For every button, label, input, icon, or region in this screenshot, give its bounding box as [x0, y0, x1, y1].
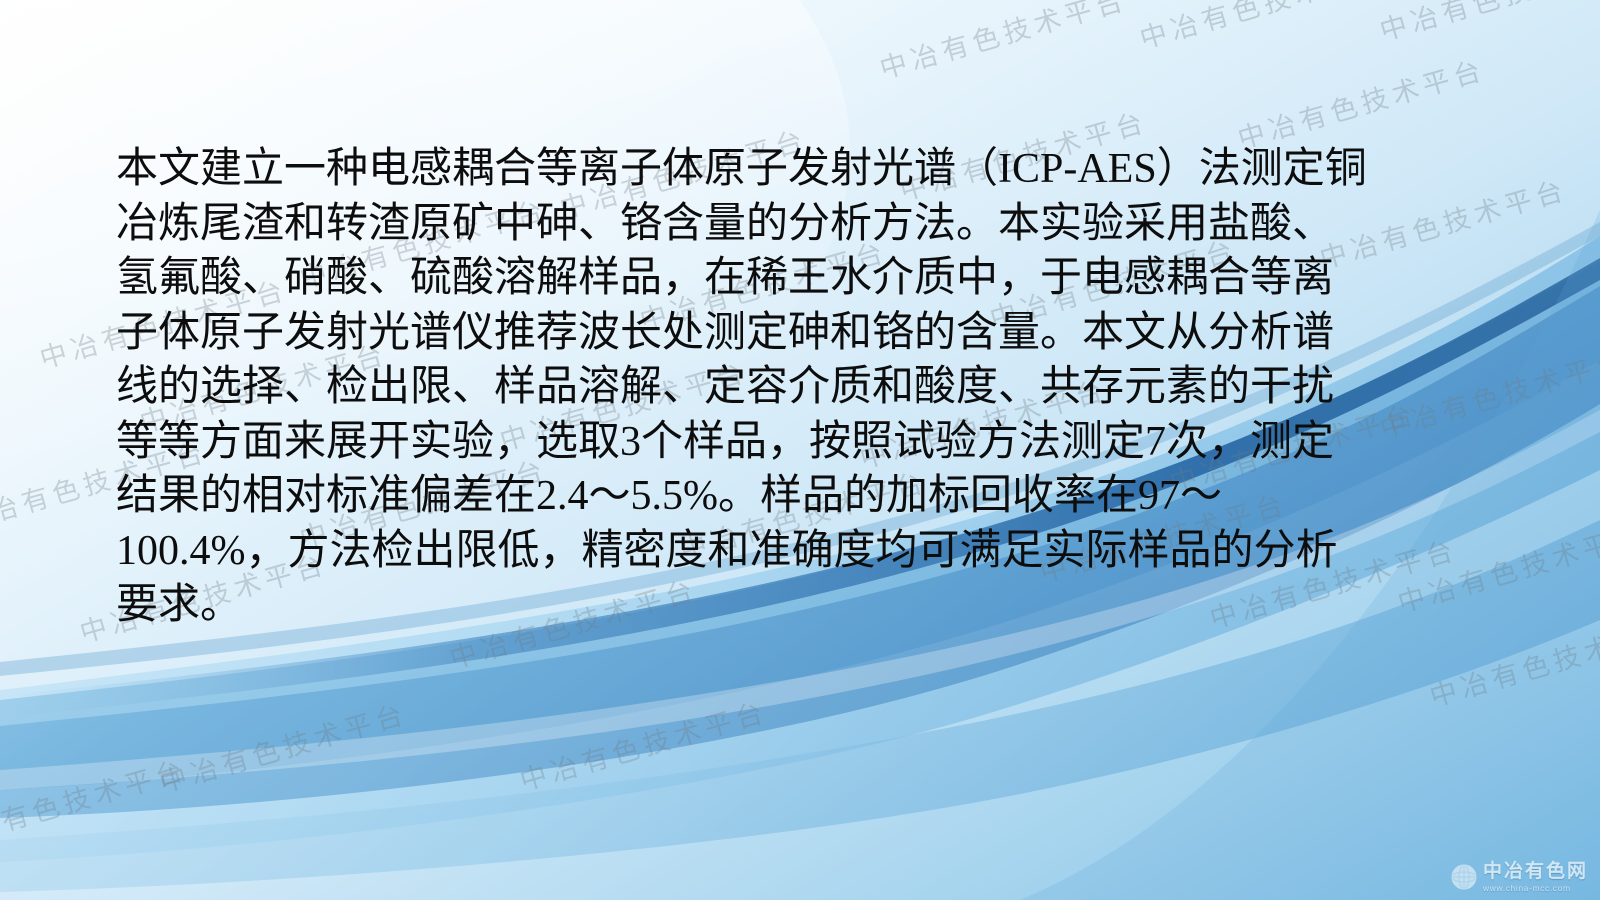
watermark-text: 中冶有色技术平台 — [1135, 0, 1392, 56]
watermark-text: 中冶有色技术平台 — [1233, 48, 1490, 156]
text-line: 本文建立一种电感耦合等离子体原子发射光谱（ICP-AES）法测定铜 — [116, 142, 1468, 197]
logo-url: www.china-mcc.com — [1483, 884, 1588, 893]
text-line: 线的选择、检出限、样品溶解、定容介质和酸度、共存元素的干扰 — [116, 360, 1468, 415]
watermark-text: 中冶有色技术平台 — [155, 692, 412, 800]
text-line: 氢氟酸、硝酸、硫酸溶解样品，在稀王水介质中，于电感耦合等离 — [116, 251, 1468, 306]
logo-name: 中冶有色网 — [1483, 862, 1588, 881]
watermark-text: 中冶有色技术平台 — [0, 748, 191, 856]
text-line: 冶炼尾渣和转渣原矿中砷、铬含量的分析方法。本实验采用盐酸、 — [116, 197, 1468, 252]
text-line: 要求。 — [116, 578, 1468, 633]
text-line: 子体原子发射光谱仪推荐波长处测定砷和铬的含量。本文从分析谱 — [116, 306, 1468, 361]
abstract-text-block: 本文建立一种电感耦合等离子体原子发射光谱（ICP-AES）法测定铜 冶炼尾渣和转… — [116, 142, 1468, 633]
text-line: 结果的相对标准偏差在2.4～5.5%。样品的加标回收率在97～ — [116, 469, 1468, 524]
logo-text-wrap: 中冶有色网 www.china-mcc.com — [1483, 862, 1588, 893]
text-line: 100.4%，方法检出限低，精密度和准确度均可满足实际样品的分析 — [116, 524, 1468, 579]
watermark-text: 中冶有色技术平台 — [1375, 0, 1600, 48]
watermark-text: 中冶有色技术平台 — [875, 0, 1132, 86]
globe-icon — [1451, 864, 1477, 890]
slide-canvas: 中冶有色技术平台 中冶有色技术平台 中冶有色技术平台 中冶有色技术平台 中冶有色… — [0, 0, 1600, 900]
text-line: 等等方面来展开实验，选取3个样品，按照试验方法测定7次，测定 — [116, 415, 1468, 470]
site-logo: 中冶有色网 www.china-mcc.com — [1451, 862, 1588, 893]
watermark-text: 中冶有色技术平台 — [515, 690, 772, 798]
